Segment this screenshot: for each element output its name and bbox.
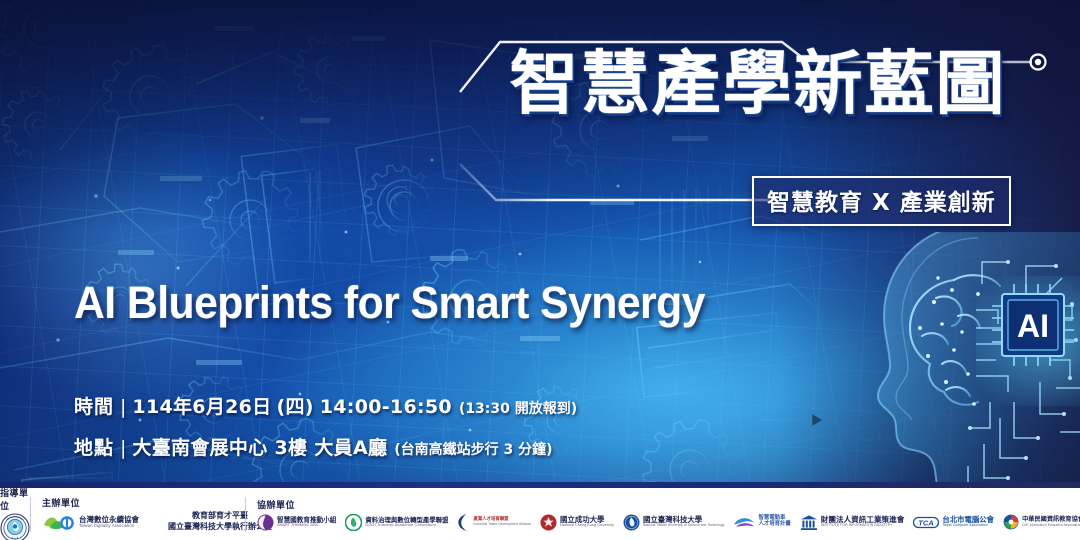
time-weekday: (四) <box>276 392 313 419</box>
subtitle-text: 智慧教育 X 產業創新 <box>767 190 996 216</box>
logo-secondary-text: CIIE Information Education Association o… <box>1022 524 1080 527</box>
subtitle-badge: 智慧教育 X 產業創新 <box>752 176 1011 226</box>
smart-ev-car-icon <box>733 515 755 529</box>
logo-dgdt-consortium: 資料治理與數位轉型產學聯盟 DGDT Industry-Academia Con… <box>345 514 448 531</box>
footer-section-guidance: 指導單位 <box>0 488 30 540</box>
footer-section-coorganizer: 協辦單位 智慧國教育推動小組 SMART THINKING 1000 <box>245 488 1080 540</box>
event-place-row: 地點 | 大臺南會展中心 3樓 大員A廳 (台南高鐵站步行 3 分鐘) <box>74 433 577 460</box>
time-label: 時間 <box>74 392 114 419</box>
place-separator: | <box>120 437 126 459</box>
time-separator: | <box>120 396 126 418</box>
ncku-seal-icon <box>540 514 557 531</box>
talent-alliance-swoosh-icon <box>457 513 470 532</box>
smart-thinking-circle-icon <box>257 514 274 531</box>
iii-bank-building-icon <box>800 514 818 531</box>
talent-alliance-text: 產業人才培育聯盟 Industrial Talent Development A… <box>473 518 531 526</box>
logo-talent-cultivation-alliance: 產業人才培育聯盟 Industrial Talent Development A… <box>457 513 531 532</box>
taiwan-digitality-leaf-icon <box>42 512 76 532</box>
logo-secondary-text: 人才培育計畫 <box>758 522 790 528</box>
time-day: 26 <box>225 396 252 418</box>
logo-secondary-text: DGDT Industry-Academia Consortium <box>365 523 448 527</box>
logo-ministry-of-education <box>0 513 30 540</box>
place-floor: 3樓 <box>275 433 308 460</box>
smart-thinking-text: 智慧國教育推動小組 SMART THINKING 1000 <box>277 517 336 528</box>
ai-chip-label: AI <box>1017 308 1049 344</box>
footer-section-organizer: 主辦單位 台灣數位永續協會 Taiwan Digitality Associat… <box>30 488 245 540</box>
ciie-emblem-icon <box>1003 514 1019 530</box>
time-month: 6月 <box>192 392 225 419</box>
dgdt-circle-icon <box>345 514 362 531</box>
ciie-text: 中華民國資訊教育協會 CIIE Information Education As… <box>1022 517 1080 527</box>
taiwan-digitality-association-text: 台灣數位永續協會 Taiwan Digitality Association <box>79 516 139 528</box>
svg-text:TCA: TCA <box>919 518 935 527</box>
smart-ev-text: 智慧電動車 人才培育計畫 <box>758 516 790 527</box>
logo-secondary-text: INSTITUTE FOR INFORMATION INDUSTRY <box>821 524 905 528</box>
logo-ciie: 中華民國資訊教育協會 CIIE Information Education As… <box>1003 514 1080 530</box>
organizer-logos: 台灣數位永續協會 Taiwan Digitality Association 教… <box>42 511 245 533</box>
logo-secondary-text: SMART THINKING 1000 <box>277 524 336 528</box>
logo-secondary-text: National Cheng Kung University <box>560 524 614 528</box>
event-details: 時間 | 114年 6月 26 日 (四) 14:00-16:50 (13:30… <box>74 392 577 474</box>
logo-taipei-computer-association: TCA 台北市電腦公會 Taipei Computer Association <box>913 516 994 529</box>
time-year: 114年 <box>132 392 192 419</box>
iii-text: 財團法人資訊工業策進會 INSTITUTE FOR INFORMATION IN… <box>821 516 905 528</box>
logo-smart-thinking-1000: 智慧國教育推動小組 SMART THINKING 1000 <box>257 514 336 531</box>
logo-ncku: 國立成功大學 National Cheng Kung University <box>540 514 614 531</box>
guidance-logos <box>0 513 30 540</box>
ministry-of-education-seal-icon <box>0 513 30 540</box>
place-note: (台南高鐵站步行 3 分鐘) <box>394 439 552 459</box>
page-title-english: AI Blueprints for Smart Synergy <box>74 277 705 329</box>
logo-secondary-text: Taipei Computer Association <box>942 524 994 528</box>
tca-text: 台北市電腦公會 Taipei Computer Association <box>942 516 994 527</box>
time-day-unit: 日 <box>252 392 271 419</box>
sponsor-footer: 指導單位 <box>0 488 1080 540</box>
coorganizer-heading: 協辦單位 <box>257 498 1080 511</box>
dgdt-text: 資料治理與數位轉型產學聯盟 DGDT Industry-Academia Con… <box>365 517 448 528</box>
logo-institute-for-information-industry: 財團法人資訊工業策進會 INSTITUTE FOR INFORMATION IN… <box>800 514 905 531</box>
ai-chip: AI <box>992 284 1074 366</box>
logo-secondary-text: Taiwan Digitality Association <box>79 524 139 528</box>
time-range: 14:00-16:50 <box>320 396 452 418</box>
place-hall: 大員A廳 <box>314 433 387 460</box>
event-time-row: 時間 | 114年 6月 26 日 (四) 14:00-16:50 (13:30… <box>74 392 577 419</box>
event-banner: AI <box>0 0 1080 540</box>
ncku-text: 國立成功大學 National Cheng Kung University <box>560 516 614 528</box>
tca-wordmark-icon: TCA <box>913 516 939 529</box>
logo-ntust: 國立臺灣科技大學 National Taiwan University of S… <box>623 514 724 531</box>
place-label: 地點 <box>74 433 114 460</box>
logo-taiwan-digitality-association: 台灣數位永續協會 Taiwan Digitality Association <box>42 512 139 532</box>
guidance-heading: 指導單位 <box>0 486 30 512</box>
logo-secondary-text: National Taiwan University of Science an… <box>643 524 724 527</box>
place-venue: 大臺南會展中心 <box>132 433 267 460</box>
page-title: 智慧產學新藍圖 <box>478 50 1038 119</box>
ntust-seal-icon <box>623 514 640 531</box>
logo-secondary-text: Industrial Talent Development Alliance <box>473 523 531 526</box>
organizer-heading: 主辦單位 <box>42 496 245 509</box>
logo-smart-ev-talent-program: 智慧電動車 人才培育計畫 <box>733 515 790 529</box>
ntust-text: 國立臺灣科技大學 National Taiwan University of S… <box>643 516 724 527</box>
time-note: (13:30 開放報到) <box>459 398 577 418</box>
coorganizer-logos: 智慧國教育推動小組 SMART THINKING 1000 資料治理與數位轉型產… <box>257 513 1080 532</box>
